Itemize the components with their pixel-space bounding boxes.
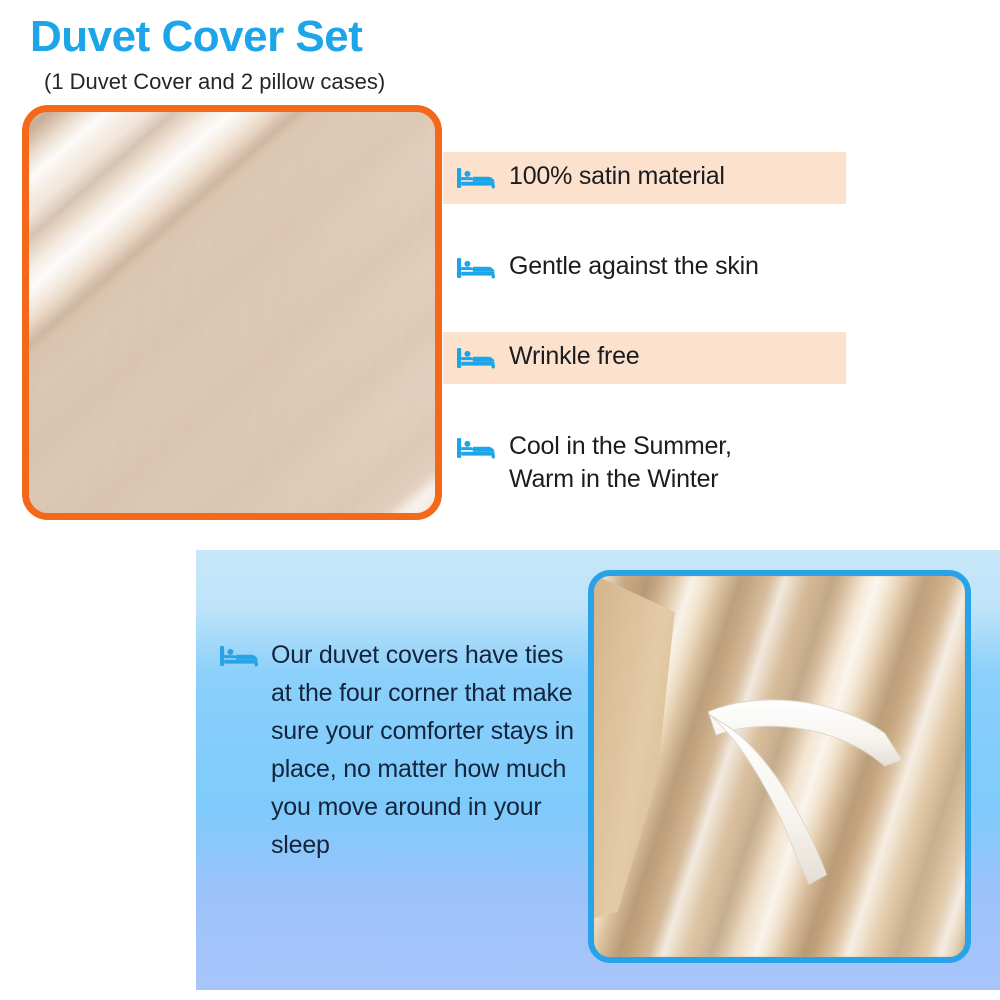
bed-icon (457, 344, 497, 372)
page-title: Duvet Cover Set (30, 14, 362, 60)
feature-item-gentle-skin: Gentle against the skin (443, 242, 846, 294)
bed-icon (457, 434, 497, 462)
feature-label: Wrinkle free (509, 340, 640, 373)
bottom-white-strip (0, 990, 1000, 1000)
satin-fabric-photo (22, 105, 442, 520)
bed-icon (457, 254, 497, 282)
corner-ties-photo (588, 570, 971, 963)
feature-label: Cool in the Summer, Warm in the Winter (509, 430, 732, 496)
bed-icon (220, 642, 260, 670)
bed-icon (457, 164, 497, 192)
ties-description-text: Our duvet covers have ties at the four c… (271, 636, 588, 864)
infographic-page: Duvet Cover Set (1 Duvet Cover and 2 pil… (0, 0, 1000, 1000)
satin-texture (29, 112, 435, 513)
feature-item-cool-warm: Cool in the Summer, Warm in the Winter (443, 422, 846, 504)
page-subtitle: (1 Duvet Cover and 2 pillow cases) (44, 70, 385, 94)
feature-item-wrinkle-free: Wrinkle free (443, 332, 846, 384)
ties-info-panel: Our duvet covers have ties at the four c… (196, 550, 1000, 990)
feature-label: 100% satin material (509, 160, 725, 193)
feature-label: Gentle against the skin (509, 250, 759, 283)
ties-description-block: Our duvet covers have ties at the four c… (220, 636, 588, 864)
feature-item-satin-material: 100% satin material (443, 152, 846, 204)
feature-list: 100% satin material Gentle against the s… (443, 152, 846, 504)
